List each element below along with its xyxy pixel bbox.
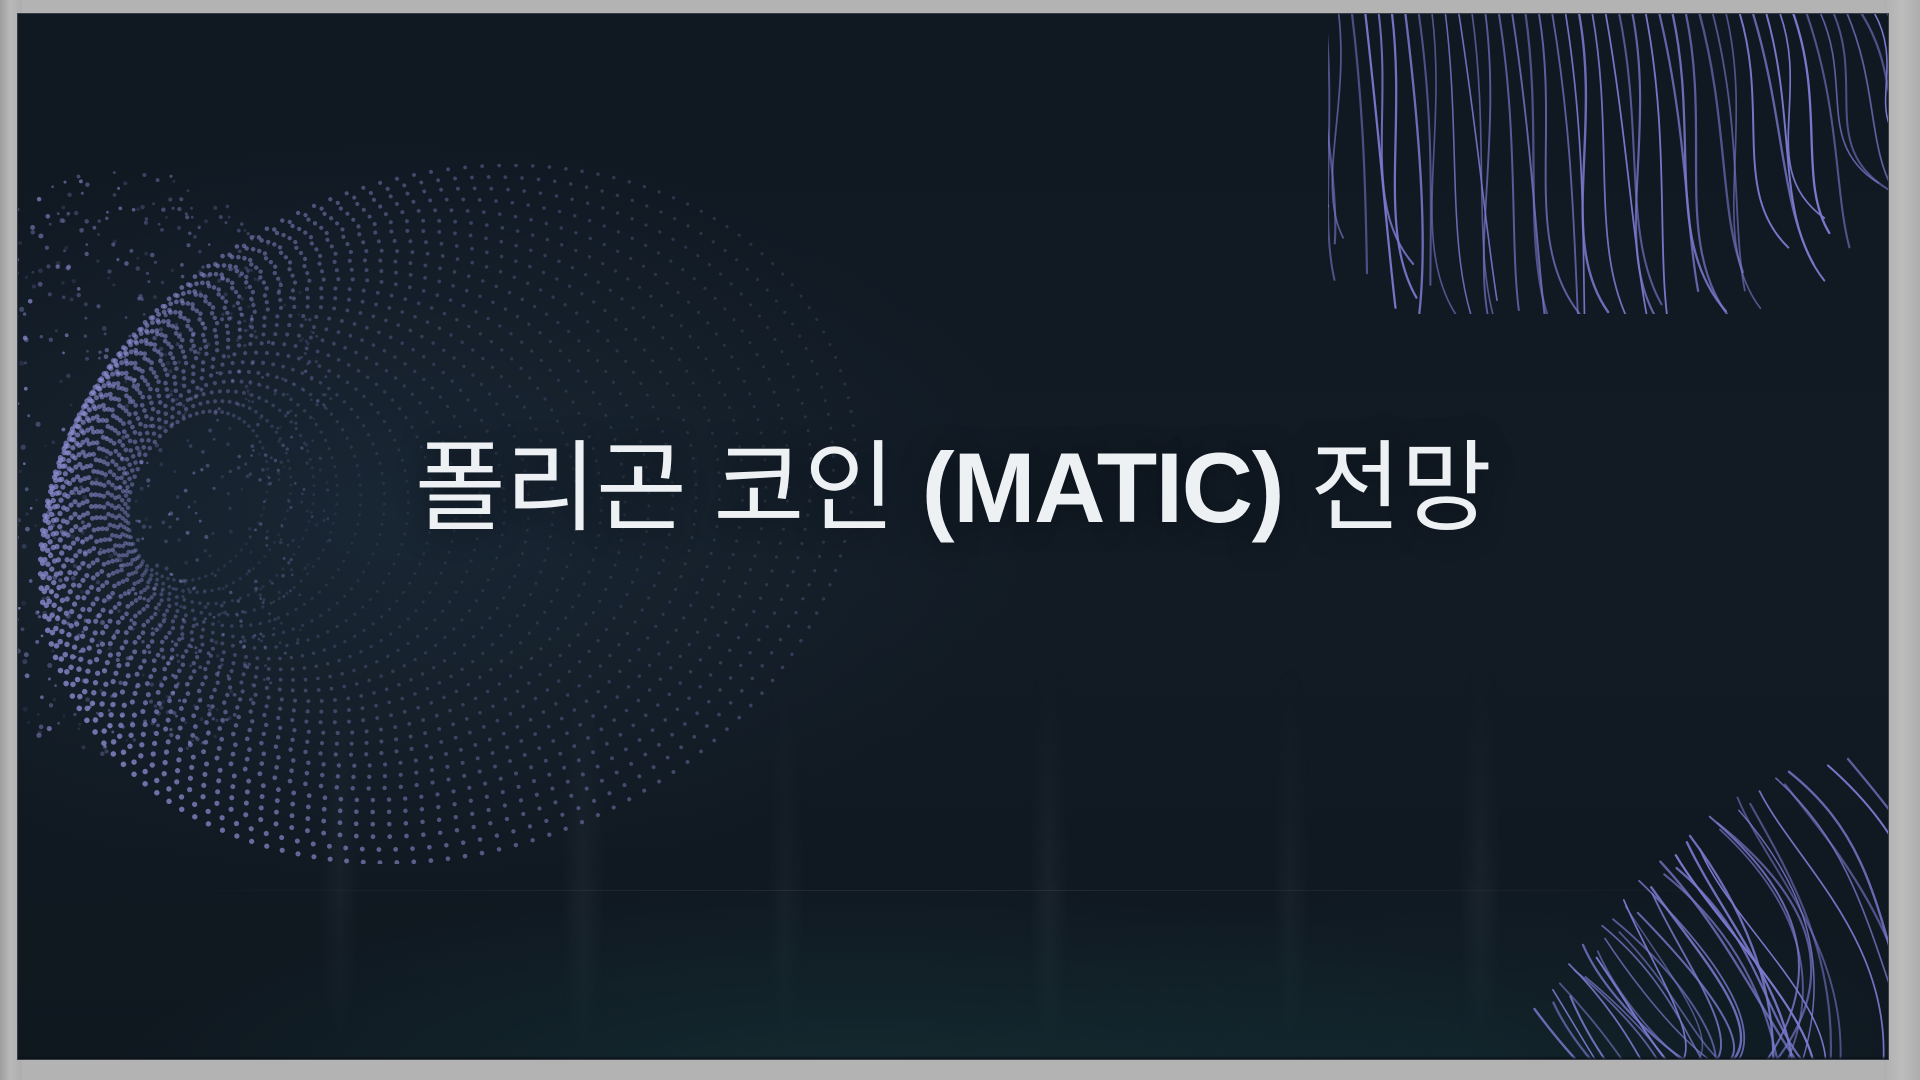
title-ticker: (MATIC) — [922, 432, 1284, 543]
frame-border-right — [1884, 0, 1920, 1080]
page-title: 폴리곤 코인 (MATIC) 전망 — [415, 435, 1492, 542]
title-lead: 폴리곤 코인 — [415, 432, 922, 543]
app-frame: 폴리곤 코인 (MATIC) 전망 — [0, 0, 1920, 1080]
slide-canvas: 폴리곤 코인 (MATIC) 전망 — [18, 14, 1888, 1059]
slide-bottom-edge — [18, 1056, 1888, 1059]
title-trail: 전망 — [1283, 432, 1491, 543]
title-block: 폴리곤 코인 (MATIC) 전망 — [18, 14, 1888, 1059]
